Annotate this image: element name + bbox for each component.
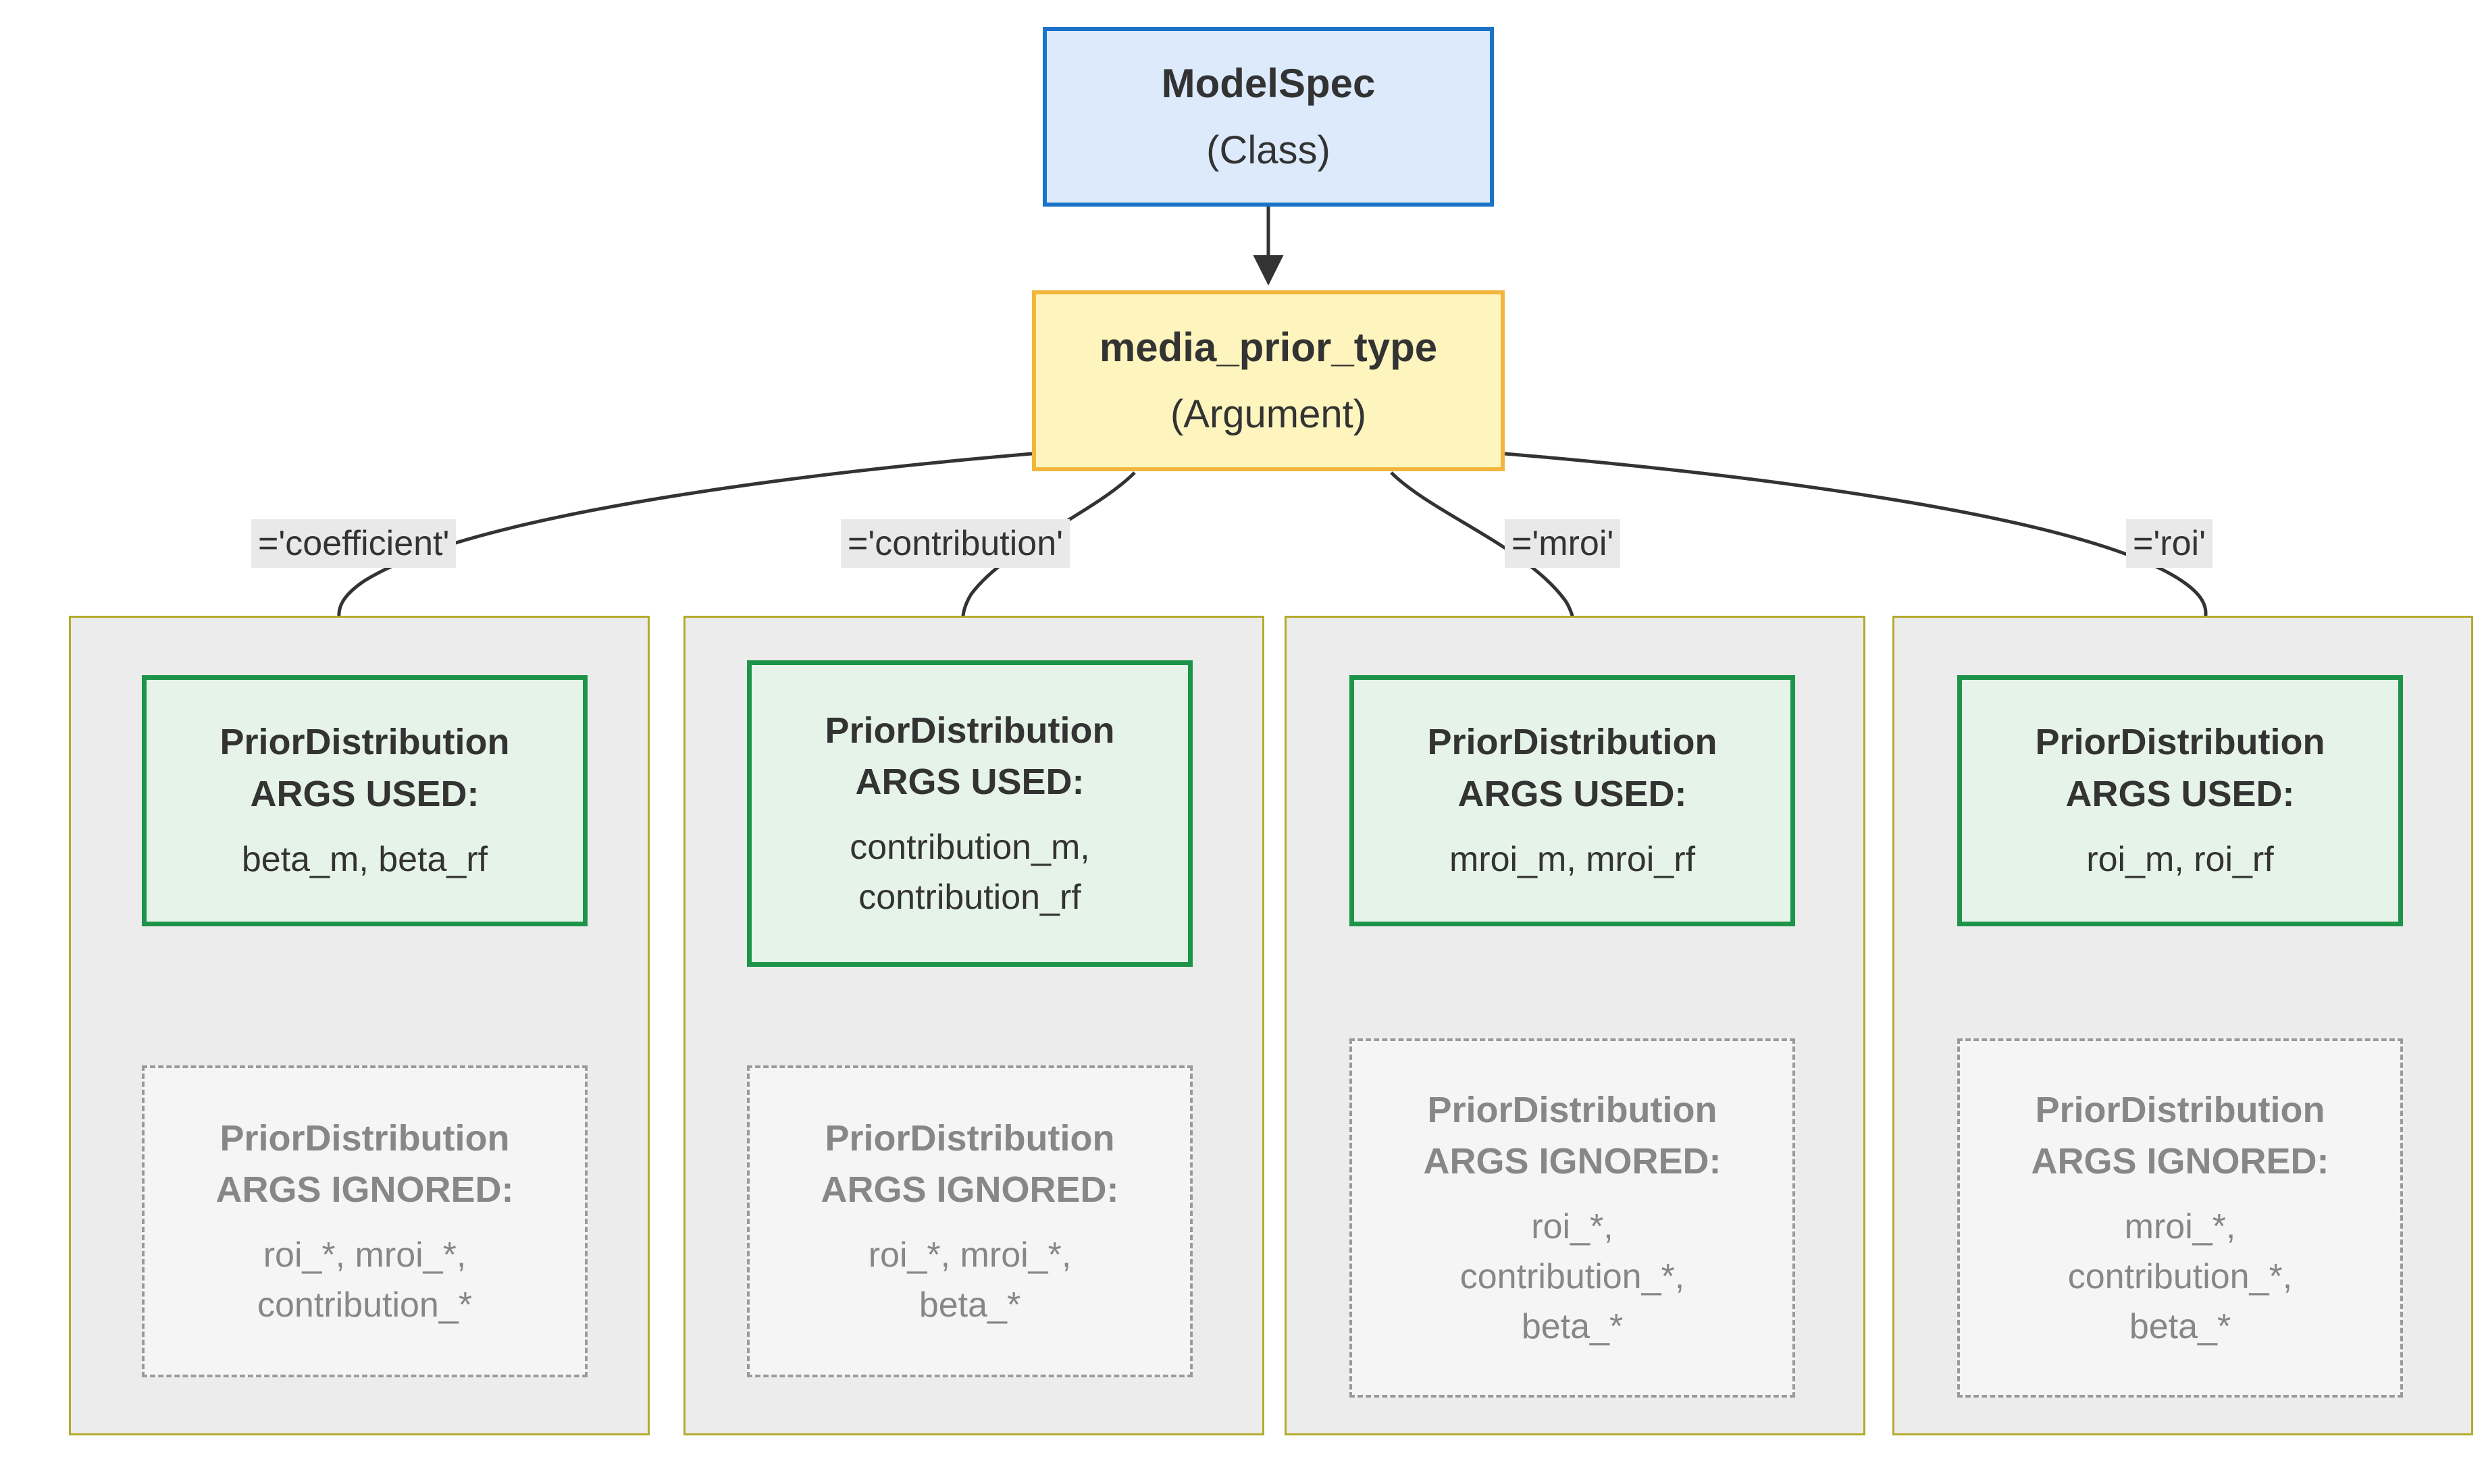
ignored-line-roi-2: beta_* [2129, 1302, 2231, 1352]
node-used-args-roi[interactable]: PriorDistribution ARGS USED: roi_m, roi_… [1957, 675, 2403, 926]
used-line-roi-0: roi_m, roi_rf [2086, 835, 2273, 885]
edge-label-roi: ='roi' [2126, 519, 2213, 568]
edge-label-contribution: ='contribution' [841, 519, 1070, 568]
used-heading-contribution: ARGS USED: [855, 756, 1084, 808]
node-modelspec-title: ModelSpec [1162, 57, 1376, 110]
used-title-roi: PriorDistribution [2036, 716, 2325, 768]
used-line-coefficient-0: beta_m, beta_rf [242, 835, 488, 885]
used-title-mroi: PriorDistribution [1428, 716, 1717, 768]
ignored-title-mroi: PriorDistribution [1428, 1084, 1717, 1136]
ignored-title-coefficient: PriorDistribution [220, 1113, 510, 1165]
node-ignored-args-contribution[interactable]: PriorDistribution ARGS IGNORED: roi_*, m… [747, 1065, 1193, 1377]
diagram-canvas: ModelSpec (Class) media_prior_type (Argu… [0, 0, 2484, 1484]
ignored-heading-mroi: ARGS IGNORED: [1423, 1136, 1721, 1188]
node-modelspec-subtitle: (Class) [1206, 125, 1330, 176]
used-line-contribution-0: contribution_m, [850, 823, 1090, 873]
ignored-line-mroi-1: contribution_*, [1460, 1252, 1684, 1302]
node-media-prior-type-argument[interactable]: media_prior_type (Argument) [1032, 290, 1505, 471]
ignored-heading-roi: ARGS IGNORED: [2031, 1136, 2329, 1188]
node-modelspec-class[interactable]: ModelSpec (Class) [1043, 27, 1494, 207]
used-line-mroi-0: mroi_m, mroi_rf [1449, 835, 1695, 885]
node-argument-title: media_prior_type [1099, 321, 1437, 374]
edge-label-mroi: ='mroi' [1505, 519, 1620, 568]
ignored-line-coefficient-0: roi_*, mroi_*, [263, 1231, 467, 1281]
ignored-line-coefficient-1: contribution_* [257, 1281, 472, 1331]
ignored-title-contribution: PriorDistribution [825, 1113, 1115, 1165]
node-used-args-mroi[interactable]: PriorDistribution ARGS USED: mroi_m, mro… [1349, 675, 1795, 926]
ignored-heading-contribution: ARGS IGNORED: [821, 1164, 1118, 1216]
ignored-line-mroi-2: beta_* [1522, 1302, 1623, 1352]
node-used-args-coefficient[interactable]: PriorDistribution ARGS USED: beta_m, bet… [142, 675, 588, 926]
ignored-heading-coefficient: ARGS IGNORED: [215, 1164, 513, 1216]
ignored-line-contribution-0: roi_*, mroi_*, [869, 1231, 1072, 1281]
used-heading-roi: ARGS USED: [2065, 768, 2294, 820]
node-used-args-contribution[interactable]: PriorDistribution ARGS USED: contributio… [747, 660, 1193, 967]
ignored-line-roi-0: mroi_*, [2125, 1202, 2236, 1252]
used-line-contribution-1: contribution_rf [858, 873, 1081, 923]
used-title-coefficient: PriorDistribution [220, 716, 510, 768]
ignored-line-contribution-1: beta_* [919, 1281, 1020, 1331]
node-ignored-args-roi[interactable]: PriorDistribution ARGS IGNORED: mroi_*, … [1957, 1038, 2403, 1398]
used-heading-mroi: ARGS USED: [1457, 768, 1686, 820]
used-heading-coefficient: ARGS USED: [250, 768, 479, 820]
ignored-line-roi-1: contribution_*, [2068, 1252, 2292, 1302]
node-ignored-args-mroi[interactable]: PriorDistribution ARGS IGNORED: roi_*, c… [1349, 1038, 1795, 1398]
ignored-line-mroi-0: roi_*, [1531, 1202, 1613, 1252]
node-argument-subtitle: (Argument) [1170, 389, 1366, 440]
used-title-contribution: PriorDistribution [825, 705, 1115, 757]
edge-label-coefficient: ='coefficient' [251, 519, 456, 568]
ignored-title-roi: PriorDistribution [2036, 1084, 2325, 1136]
node-ignored-args-coefficient[interactable]: PriorDistribution ARGS IGNORED: roi_*, m… [142, 1065, 588, 1377]
